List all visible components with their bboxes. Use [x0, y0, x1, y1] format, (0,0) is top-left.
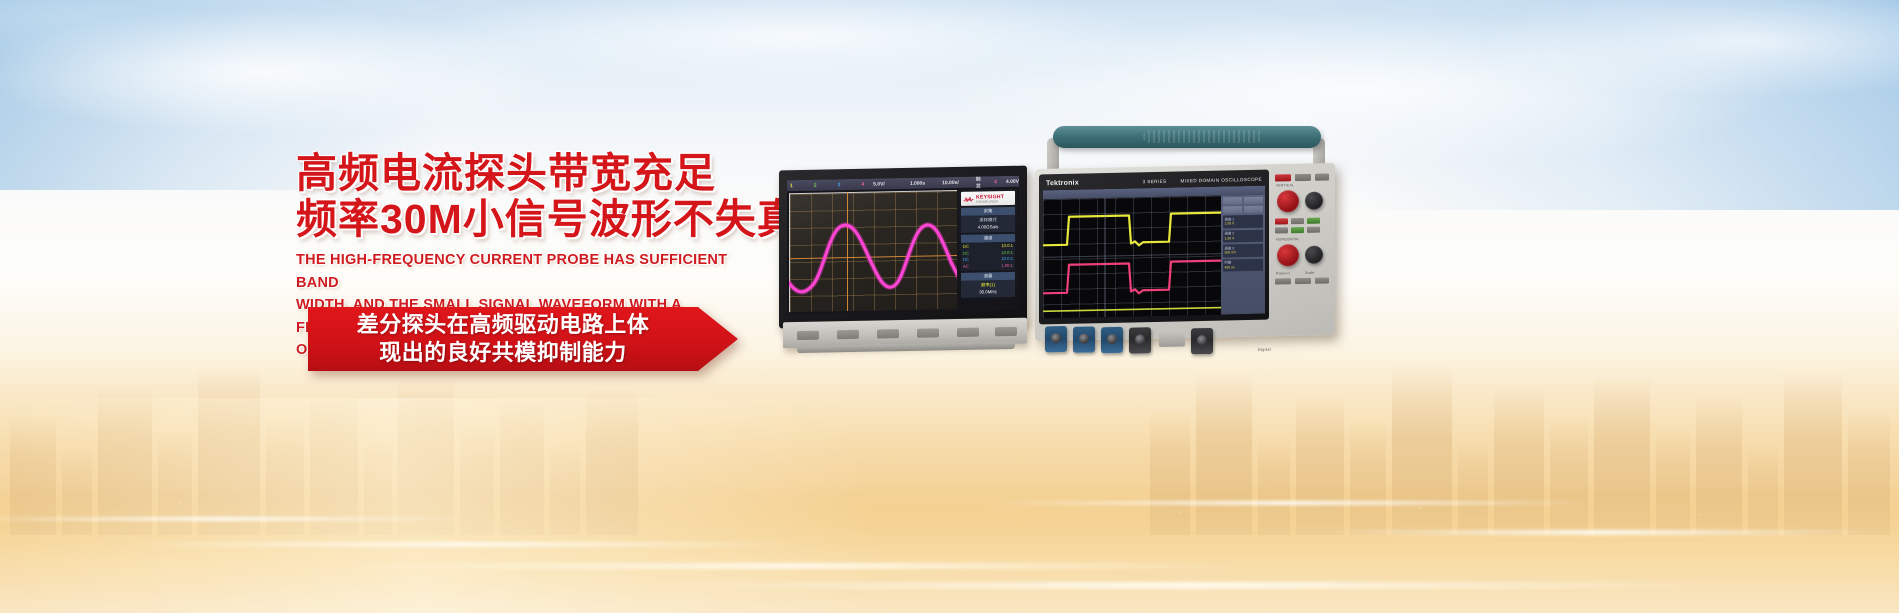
tektronix-menu-card[interactable]: 通道 3 500 mV [1223, 244, 1263, 257]
tektronix-vertical-label: VERTICAL [1276, 183, 1294, 187]
tektronix-control-panel: VERTICAL HORIZONTAL Position Scale [1273, 171, 1331, 322]
tektronix-side-menu: 通道 1 1.00 V 通道 2 1.00 V 通道 3 500 mV 时基 4… [1221, 195, 1265, 315]
tektronix-horizontal-position-knob[interactable] [1305, 246, 1323, 264]
keysight-ch-coupling: AC [963, 263, 969, 270]
tektronix-menu-button[interactable] [1223, 206, 1242, 213]
headline-line-1: 高频电流探头带宽充足 [296, 152, 766, 195]
highlight-ribbon: 差分探头在高频驱动电路上体 现出的良好共模抑制能力 [308, 307, 738, 371]
tektronix-bnc-input-4[interactable] [1129, 327, 1151, 353]
tektronix-handle-grip [1143, 130, 1263, 143]
tektronix-channel-1-button[interactable] [1275, 218, 1288, 224]
tektronix-menu-button-row [1223, 197, 1263, 205]
keysight-ch4-label: 4 [861, 181, 864, 187]
tektronix-model: MIXED DOMAIN OSCILLOSCOPE [1181, 177, 1262, 184]
keysight-ch-ratio: 1.00:1 [1001, 263, 1013, 270]
keysight-panel-button[interactable] [877, 329, 899, 338]
keysight-trigger-level: 4.00V [1006, 178, 1019, 184]
tektronix-single-button[interactable] [1295, 174, 1311, 181]
tektronix-channel-4-button[interactable] [1275, 227, 1288, 233]
keysight-panel-button[interactable] [995, 327, 1017, 336]
keysight-channel-row[interactable]: AC 1.00:1 [963, 263, 1013, 270]
ribbon-line-2: 现出的良好共模抑制能力 [379, 339, 627, 367]
tektronix-card-value: 1.00 V [1225, 222, 1235, 226]
tektronix-vertical-scale-knob[interactable] [1277, 190, 1299, 212]
tektronix-menu-card[interactable]: 通道 1 1.00 V [1223, 215, 1263, 228]
tektronix-usb-port[interactable] [1159, 330, 1185, 347]
ribbon-text-block: 差分探头在高频驱动电路上体 现出的良好共模抑制能力 [308, 307, 698, 371]
tektronix-channel-3-button[interactable] [1307, 218, 1320, 224]
tektronix-menu-card[interactable]: 时基 400 ns [1223, 258, 1263, 271]
keysight-wave-icon [963, 194, 974, 203]
tektronix-card-value: 1.00 V [1225, 236, 1235, 240]
keysight-brand: KEYSIGHT [976, 194, 1004, 201]
tektronix-scale-label: Scale [1305, 271, 1314, 275]
tektronix-bnc-input-3[interactable] [1101, 327, 1123, 353]
keysight-panel-button[interactable] [957, 328, 979, 337]
keysight-volts-div: 5.0V/ [873, 181, 885, 187]
tektronix-aux-connector[interactable] [1191, 328, 1213, 354]
keysight-acquire-panel[interactable]: 采样模式 4.00GSa/s [961, 215, 1015, 233]
tektronix-card-value: 400 ns [1225, 265, 1235, 269]
tektronix-connector-row: Digital [1041, 319, 1281, 358]
ribbon-line-1: 差分探头在高频驱动电路上体 [357, 311, 650, 339]
keysight-ch3-label: 3 [838, 182, 841, 188]
keysight-screen: 1 2 3 4 5.0V/ 1.000s 10.00s/ 触发 4 4.00V [787, 176, 1019, 314]
keysight-time-div: 1.000s [910, 180, 925, 186]
tektronix-brand: Tektronix [1046, 180, 1079, 188]
keysight-mode-value: 4.00GSa/s [961, 223, 1015, 231]
tektronix-carry-handle[interactable] [1053, 126, 1321, 148]
keysight-brand-sub: TECHNOLOGIES [976, 200, 1004, 204]
tektronix-channel-2-button[interactable] [1291, 218, 1304, 224]
tektronix-card-value: 500 mV [1225, 251, 1237, 255]
keysight-ch1-label: 1 [790, 183, 793, 189]
keysight-panel-button[interactable] [917, 328, 939, 337]
tektronix-digital-label: Digital [1258, 347, 1271, 352]
keysight-measure-panel[interactable]: 频率(1) 30.0MHz [961, 280, 1015, 298]
tektronix-oscilloscope: Tektronix 3 SERIES MIXED DOMAIN OSCILLOS… [1035, 126, 1340, 366]
tektronix-bnc-input-1[interactable] [1045, 326, 1067, 352]
tektronix-ref-button[interactable] [1307, 227, 1320, 233]
promo-banner: 高频电流探头带宽充足 频率30M小信号波形不失真 THE HIGH-FREQUE… [0, 0, 1899, 613]
tektronix-bnc-input-2[interactable] [1073, 326, 1095, 352]
tektronix-utility-button[interactable] [1315, 277, 1329, 283]
keysight-sine-trace [789, 190, 957, 312]
keysight-panel-button[interactable] [797, 331, 819, 340]
tektronix-menu-button[interactable] [1244, 206, 1263, 213]
background-bottom-glow [0, 493, 1899, 613]
tektronix-autoset-button[interactable] [1315, 173, 1329, 180]
tektronix-position-label: Position [1276, 271, 1290, 275]
tektronix-screen: 通道 1 1.00 V 通道 2 1.00 V 通道 3 500 mV 时基 4… [1043, 186, 1265, 319]
headline-line-2: 频率30M小信号波形不失真 [296, 198, 766, 241]
tektronix-vertical-position-knob[interactable] [1305, 192, 1323, 210]
subtitle-line-1: THE HIGH-FREQUENCY CURRENT PROBE HAS SUF… [296, 249, 751, 294]
keysight-measure-value: 30.0MHz [961, 289, 1015, 297]
keysight-channel-rows: DC 10.0:1 DC 10.0:1 DC 10.0:1 AC 1.00:1 [961, 242, 1015, 271]
tektronix-cursors-button[interactable] [1295, 278, 1311, 284]
keysight-panel-button[interactable] [837, 330, 859, 339]
tektronix-menu-button[interactable] [1244, 197, 1263, 204]
tektronix-waveform-traces [1043, 196, 1221, 319]
tektronix-series: 3 SERIES [1143, 179, 1167, 185]
tektronix-menu-button-row [1223, 206, 1263, 214]
keysight-logo: KEYSIGHT TECHNOLOGIES [961, 191, 1015, 206]
keysight-oscilloscope: 1 2 3 4 5.0V/ 1.000s 10.00s/ 触发 4 4.00V [779, 168, 1037, 360]
keysight-time-total: 10.00s/ [942, 179, 959, 185]
keysight-ch2-label: 2 [814, 182, 817, 188]
keysight-side-panel: KEYSIGHT TECHNOLOGIES 采集 采样模式 4.00GSa/s … [959, 189, 1017, 309]
tektronix-math-button[interactable] [1291, 227, 1304, 233]
tektronix-horizontal-scale-knob[interactable] [1277, 244, 1299, 266]
tektronix-run-stop-button[interactable] [1275, 174, 1291, 181]
keysight-trigger-mode: 触发 [976, 176, 981, 189]
keysight-trigger-ch: 4 [994, 179, 997, 185]
tektronix-measure-button[interactable] [1275, 278, 1291, 284]
tektronix-menu-button[interactable] [1223, 197, 1242, 204]
tektronix-horizontal-label: HORIZONTAL [1276, 237, 1300, 241]
tektronix-menu-card[interactable]: 通道 2 1.00 V [1223, 229, 1263, 242]
